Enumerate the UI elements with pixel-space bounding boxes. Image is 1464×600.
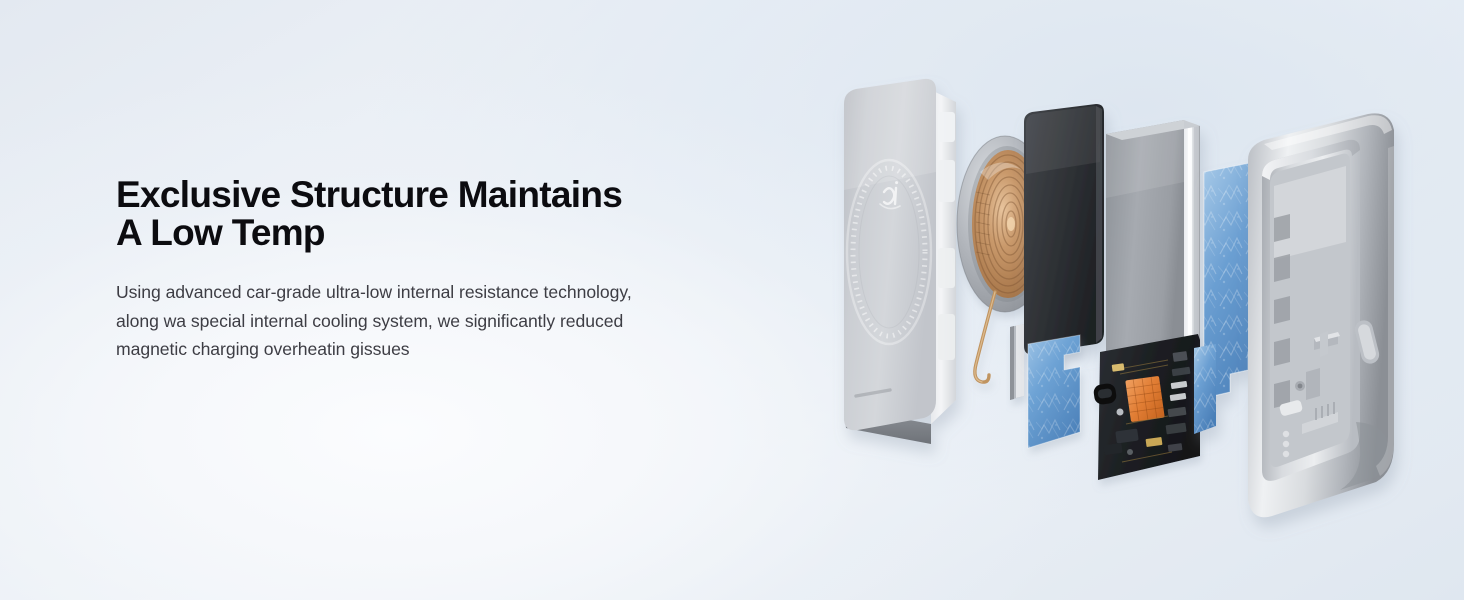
layer-graphite-shield: [1024, 104, 1104, 354]
layer-magnet-bar: [1010, 324, 1024, 400]
layer-front-cover: [844, 79, 956, 444]
layer-circuit-board: [1093, 334, 1200, 480]
layer-battery-cell: [1106, 120, 1200, 374]
product-exploded-view: [828, 52, 1428, 552]
layer-cooling-pad-front: [1028, 335, 1080, 448]
page-description: Using advanced car-grade ultra-low inter…: [116, 278, 776, 364]
layer-back-shell: [1248, 113, 1394, 517]
page-title: Exclusive Structure Maintains A Low Temp: [116, 176, 776, 253]
copy-block: Exclusive Structure Maintains A Low Temp…: [116, 176, 776, 364]
promo-banner: Exclusive Structure Maintains A Low Temp…: [0, 0, 1464, 600]
